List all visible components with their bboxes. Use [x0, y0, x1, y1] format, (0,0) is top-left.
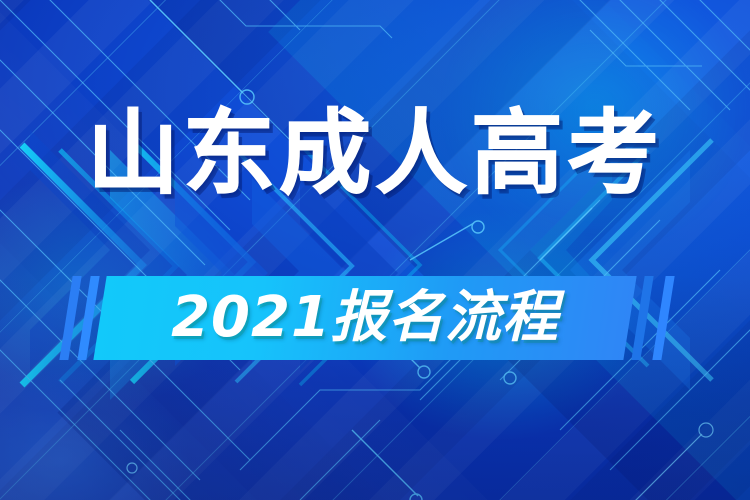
poster-canvas: 山东成人高考 2021报名流程: [0, 0, 750, 500]
page-title: 山东成人高考: [87, 108, 663, 200]
bottom-vignette: [0, 0, 750, 500]
poster-title-container: 山东成人高考: [0, 108, 750, 200]
banner-text-container: 2021报名流程: [100, 276, 630, 360]
subtitle-banner: 2021报名流程: [62, 276, 688, 360]
banner-bar-right-inner: [631, 276, 653, 360]
banner-bar-right-outer: [652, 276, 674, 360]
subtitle-text: 2021报名流程: [171, 290, 559, 346]
